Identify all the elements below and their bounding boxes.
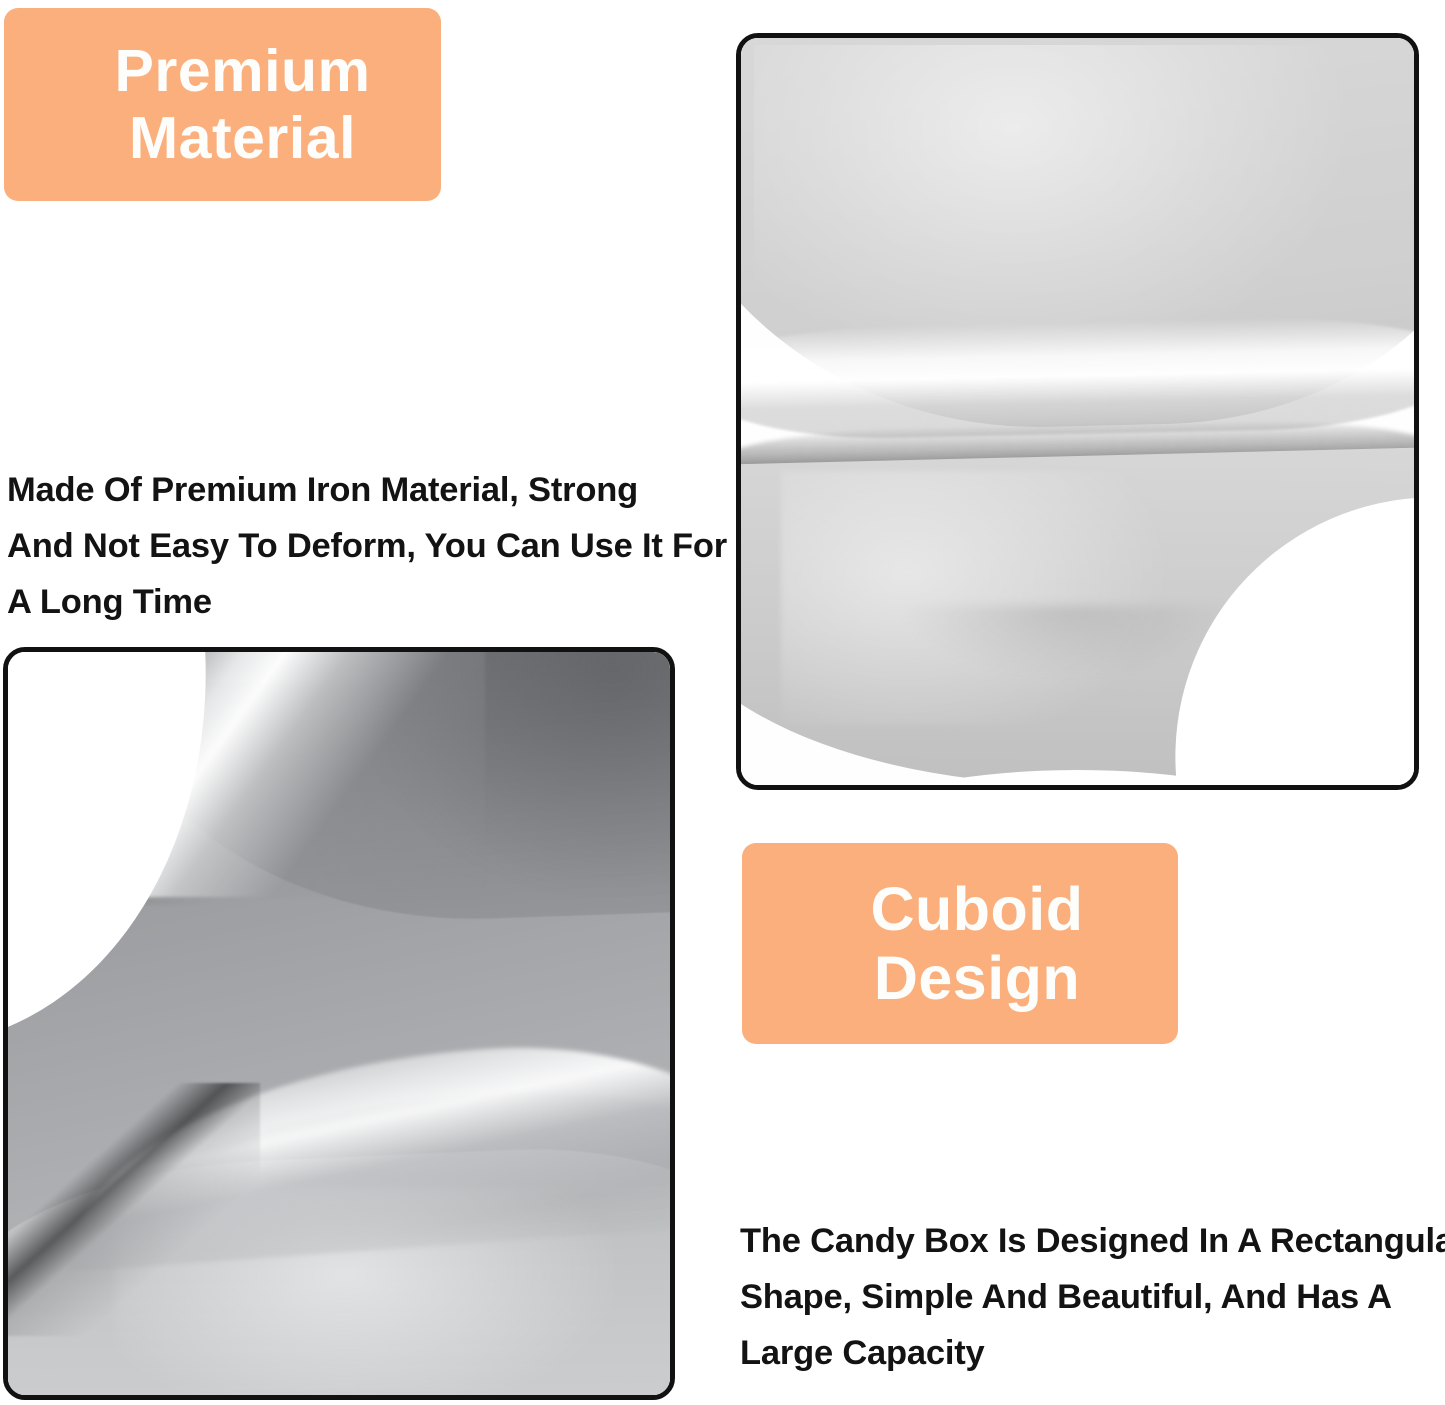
product-photo-premium-material (3, 647, 675, 1400)
tray-diagonal-edge (8, 1083, 260, 1336)
description-line-3: A Long Time (7, 574, 737, 630)
feature-description-cuboid-design: The Candy Box Is Designed In A Rectangul… (740, 1213, 1445, 1381)
description-line-2: And Not Easy To Deform, You Can Use It F… (7, 518, 737, 574)
feature-badge-cuboid-design: Cuboid Design (742, 843, 1178, 1044)
infographic-canvas: Premium Material Made Of Premium Iron Ma… (0, 0, 1445, 1405)
badge-line-1: Cuboid (870, 875, 1083, 943)
feature-badge-premium-material: Premium Material (4, 8, 441, 201)
badge-line-1: Premium (115, 38, 371, 104)
feature-description-premium-material: Made Of Premium Iron Material, Strong An… (7, 462, 737, 630)
metal-tray-corner-image (8, 652, 670, 1395)
description-line-1: Made Of Premium Iron Material, Strong (7, 462, 737, 518)
description-line-3: Large Capacity (740, 1325, 1445, 1381)
badge-line-2: Design (874, 944, 1080, 1012)
badge-line-2: Material (129, 105, 356, 171)
description-line-1: The Candy Box Is Designed In A Rectangul… (740, 1213, 1445, 1269)
product-photo-cuboid-design (736, 33, 1419, 790)
description-line-2: Shape, Simple And Beautiful, And Has A (740, 1269, 1445, 1325)
tin-box-lid-corner-image (741, 38, 1414, 785)
